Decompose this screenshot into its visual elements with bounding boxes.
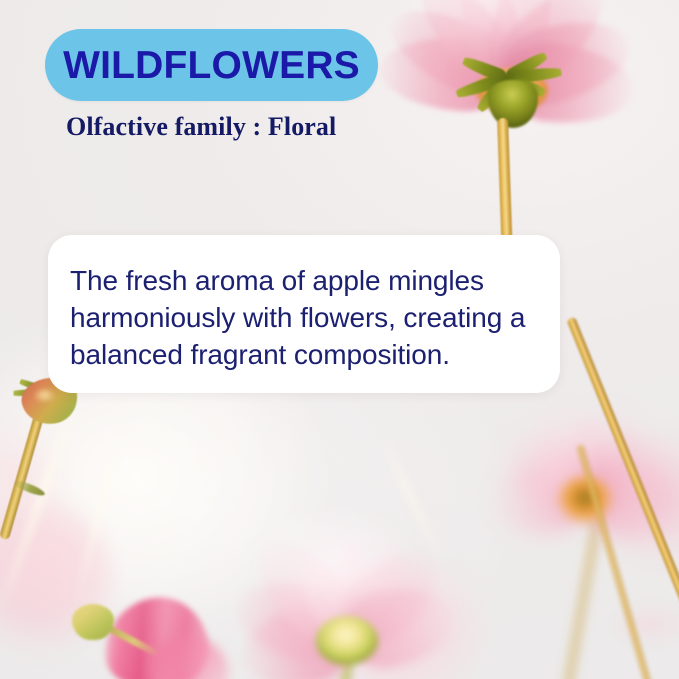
description-card: The fresh aroma of apple mingles harmoni… <box>48 235 560 393</box>
flower-bud-left <box>0 372 124 542</box>
title-badge: WILDFLOWERS <box>45 29 378 101</box>
bud-branch <box>108 625 161 657</box>
cosmos-flower-top <box>350 0 679 258</box>
calyx <box>488 80 538 128</box>
bud-stem <box>0 415 44 541</box>
bud-head <box>72 604 114 640</box>
olfactive-family-label: Olfactive family : Floral <box>66 112 336 142</box>
description-text: The fresh aroma of apple mingles harmoni… <box>70 262 544 374</box>
flower-bud-bottom-left <box>62 604 172 679</box>
flower-center <box>556 476 614 526</box>
cosmos-flower-bottom <box>176 500 506 679</box>
flower-center <box>316 616 378 666</box>
product-poster: WILDFLOWERS Olfactive family : Floral Th… <box>0 0 679 679</box>
bud-highlight <box>34 388 60 406</box>
bud-stem <box>81 634 98 679</box>
page-title: WILDFLOWERS <box>63 46 360 85</box>
